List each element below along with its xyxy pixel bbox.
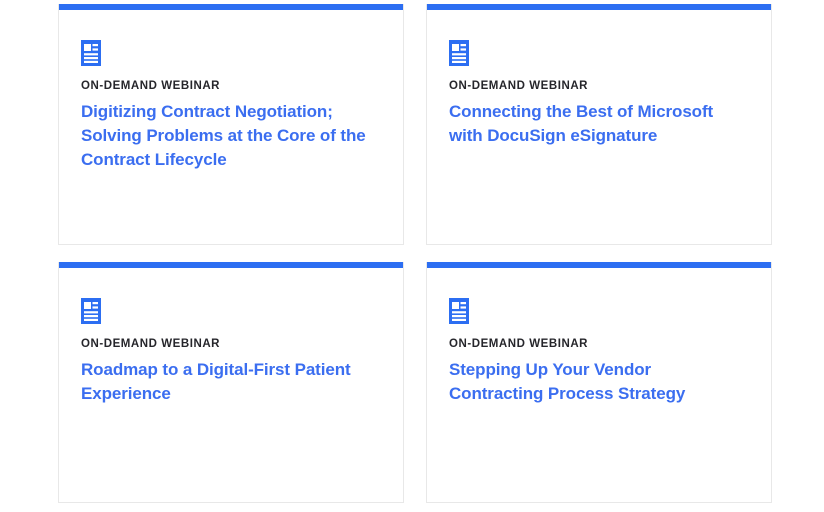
- card-title-link[interactable]: Digitizing Contract Negotiation; Solving…: [81, 100, 381, 172]
- resource-card[interactable]: ON-DEMAND WEBINAR Digitizing Contract Ne…: [58, 4, 404, 245]
- article-document-icon: [81, 40, 101, 66]
- card-eyebrow-label: ON-DEMAND WEBINAR: [449, 337, 749, 351]
- article-document-icon: [449, 40, 469, 66]
- card-title-link[interactable]: Roadmap to a Digital-First Patient Exper…: [81, 358, 381, 406]
- card-eyebrow-label: ON-DEMAND WEBINAR: [449, 79, 749, 93]
- card-eyebrow-label: ON-DEMAND WEBINAR: [81, 79, 381, 93]
- resource-card-grid: ON-DEMAND WEBINAR Digitizing Contract Ne…: [58, 4, 772, 503]
- card-eyebrow-label: ON-DEMAND WEBINAR: [81, 337, 381, 351]
- resource-card[interactable]: ON-DEMAND WEBINAR Connecting the Best of…: [426, 4, 772, 245]
- resource-card[interactable]: ON-DEMAND WEBINAR Stepping Up Your Vendo…: [426, 262, 772, 503]
- card-title-link[interactable]: Stepping Up Your Vendor Contracting Proc…: [449, 358, 749, 406]
- resource-card[interactable]: ON-DEMAND WEBINAR Roadmap to a Digital-F…: [58, 262, 404, 503]
- article-document-icon: [449, 298, 469, 324]
- card-body: ON-DEMAND WEBINAR Stepping Up Your Vendo…: [427, 268, 771, 406]
- article-document-icon: [81, 298, 101, 324]
- card-body: ON-DEMAND WEBINAR Digitizing Contract Ne…: [59, 10, 403, 172]
- card-title-link[interactable]: Connecting the Best of Microsoft with Do…: [449, 100, 749, 148]
- card-body: ON-DEMAND WEBINAR Connecting the Best of…: [427, 10, 771, 148]
- card-body: ON-DEMAND WEBINAR Roadmap to a Digital-F…: [59, 268, 403, 406]
